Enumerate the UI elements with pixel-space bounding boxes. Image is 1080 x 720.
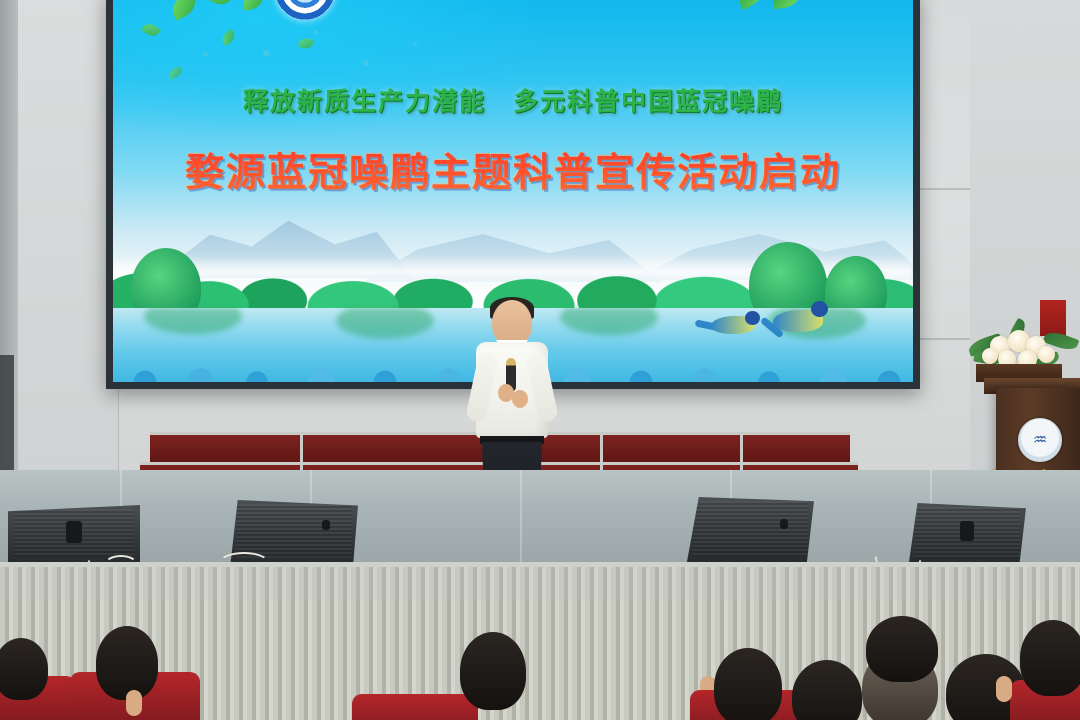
bokeh-dot bbox=[363, 60, 369, 66]
audience-hand bbox=[996, 676, 1012, 702]
left-dark-recess bbox=[0, 355, 14, 475]
audience-head bbox=[460, 632, 526, 710]
podium-flower-arrangement: 主席台插花 bbox=[970, 322, 1078, 384]
screen-main-title: 婺源蓝冠噪鹛主题科普宣传活动启动 bbox=[113, 142, 913, 198]
audience-head bbox=[96, 626, 158, 700]
audience-seat bbox=[352, 694, 478, 720]
audience-head bbox=[866, 616, 938, 682]
presenter-hand-right bbox=[512, 390, 528, 408]
flowers-label: 主席台插花 bbox=[970, 322, 971, 323]
presenter-label: 主讲嘉宾 bbox=[470, 300, 471, 301]
presenter-head bbox=[492, 300, 532, 346]
stage-monitor-speaker bbox=[686, 497, 814, 567]
audience-head bbox=[714, 648, 782, 720]
audience-head bbox=[1020, 620, 1080, 696]
screen-subtitle: 释放新质生产力潜能 多元科普中国蓝冠噪鹛 bbox=[113, 82, 913, 118]
bokeh-dot bbox=[263, 50, 270, 57]
school-emblem-icon: ♒ bbox=[1018, 418, 1062, 462]
bokeh-dot bbox=[203, 52, 208, 57]
presenter-holding: 手持话筒 bbox=[470, 300, 471, 301]
audience-head bbox=[0, 638, 48, 700]
audience-hand bbox=[126, 690, 142, 716]
auditorium-photo: 报告厅墙面 深红色背景墙板 释放新质生产力潜能 多元科普中国蓝冠噪鹛 婺源蓝冠噪… bbox=[0, 0, 1080, 720]
stage-monitor-speaker bbox=[908, 503, 1026, 569]
bokeh-dot bbox=[413, 42, 417, 46]
bokeh-dot bbox=[313, 30, 318, 35]
presenter-attire: 白色衬衫 深色西裤 bbox=[470, 300, 471, 301]
emblem-glyph: ♒ bbox=[1033, 430, 1047, 450]
